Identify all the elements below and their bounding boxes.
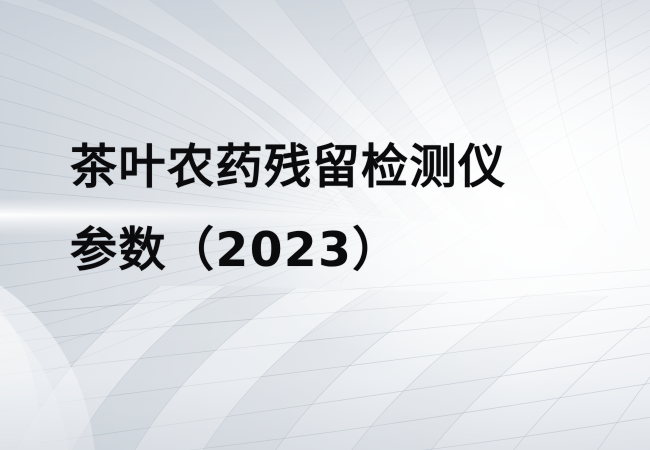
banner-title-line-2: 参数（2023） [70,209,630,292]
banner-title-line-1: 茶叶农药残留检测仪 [70,126,630,209]
banner-image: 茶叶农药残留检测仪 参数（2023） [0,0,650,450]
banner-title: 茶叶农药残留检测仪 参数（2023） [70,126,630,292]
